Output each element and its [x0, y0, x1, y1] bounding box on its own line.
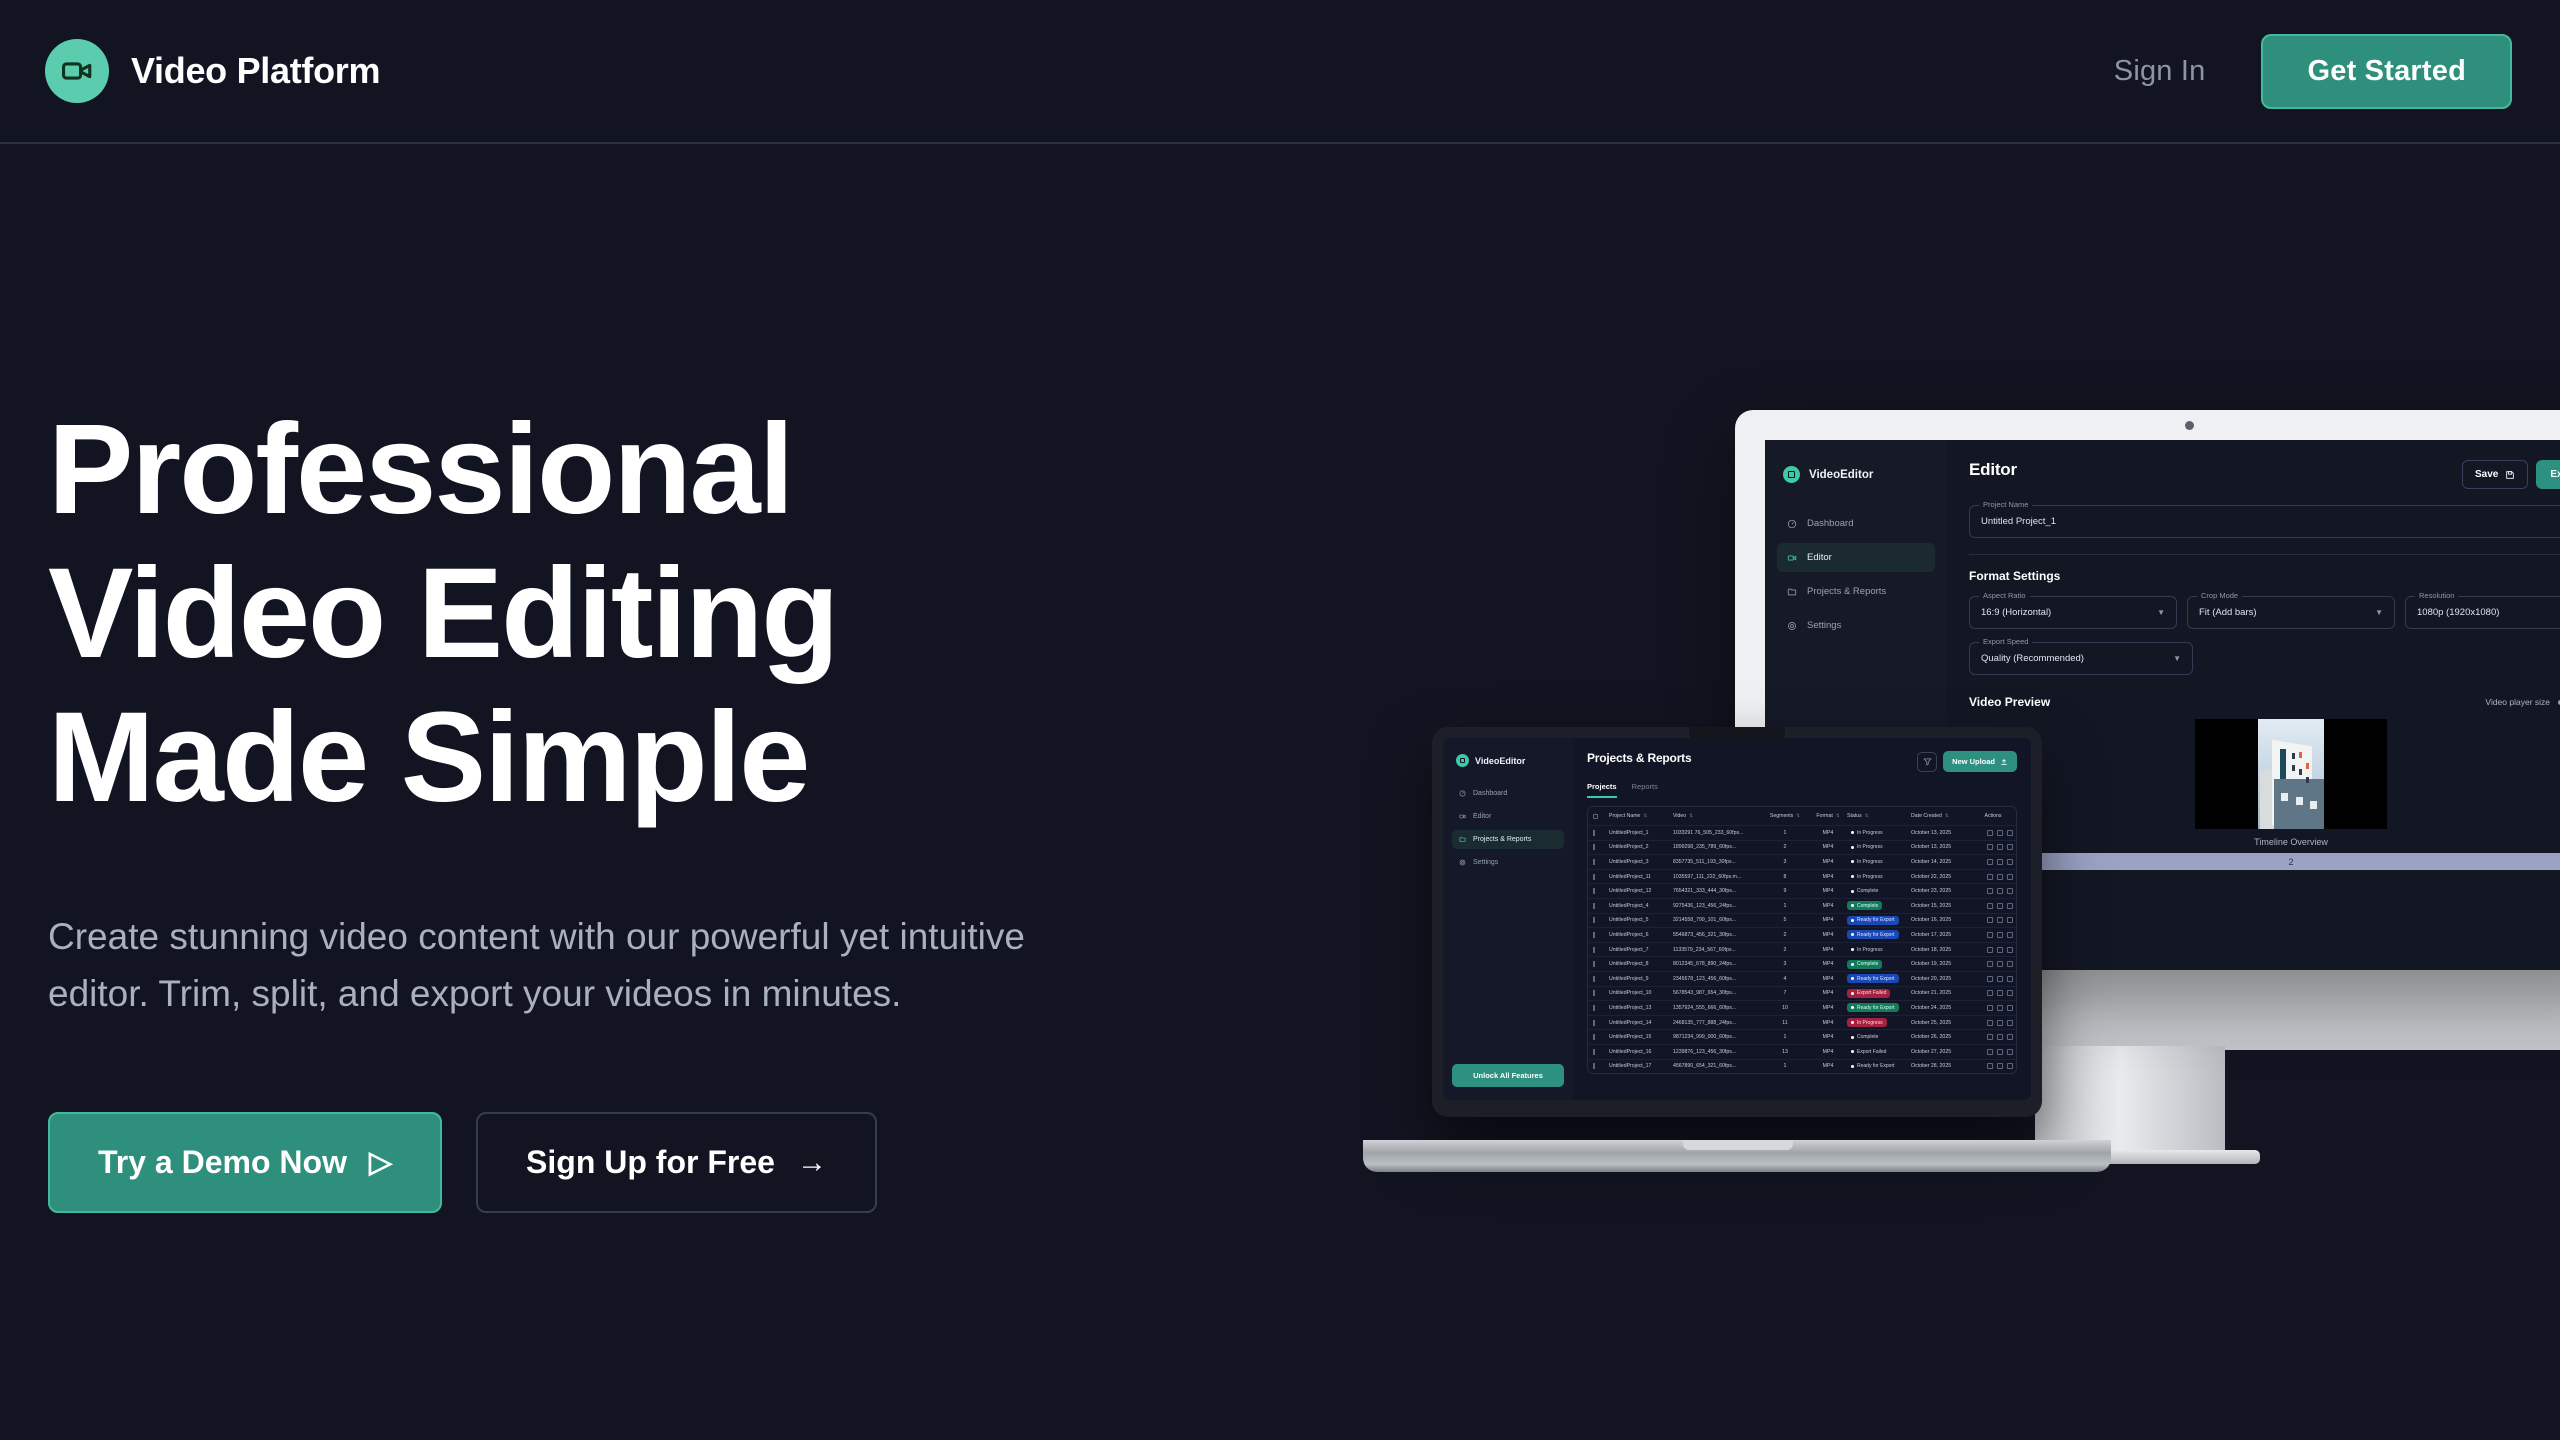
cell-format: MP4 — [1809, 874, 1847, 880]
sidebar-label: Editor — [1473, 813, 1491, 820]
sidebar-item-dashboard[interactable]: Dashboard — [1777, 509, 1935, 538]
cell-status: Export Failed — [1847, 1047, 1911, 1056]
editor-brand-name: VideoEditor — [1809, 469, 1873, 481]
row-checkbox[interactable] — [1593, 903, 1609, 909]
cell-project-name: UntitledProject_17 — [1609, 1063, 1673, 1069]
cell-status: In Progress — [1847, 872, 1911, 881]
cell-date-created: October 17, 2025 — [1911, 932, 1973, 938]
row-checkbox[interactable] — [1593, 932, 1609, 938]
row-checkbox[interactable] — [1593, 990, 1609, 996]
cell-project-name: UntitledProject_15 — [1609, 1034, 1673, 1040]
trash-icon[interactable] — [2007, 903, 2013, 909]
video-thumbnail — [2258, 719, 2324, 829]
table-row[interactable]: UntitledProject_105678543_987_654_30fps.… — [1588, 986, 2016, 1001]
cell-format: MP4 — [1809, 932, 1847, 938]
projects-page-title: Projects & Reports — [1587, 751, 1691, 765]
cell-status: In Progress — [1847, 828, 1911, 837]
edit-icon[interactable] — [1987, 917, 1993, 923]
timeline-overview-label: Timeline Overview — [1969, 837, 2560, 847]
column-project-name[interactable]: Project Name⇅ — [1609, 813, 1673, 819]
cell-video: 1033291 76_505_233_60fps... — [1673, 830, 1761, 836]
row-checkbox[interactable] — [1593, 874, 1609, 880]
sidebar-label: Projects & Reports — [1807, 586, 1886, 597]
status-badge: In Progress — [1847, 872, 1887, 881]
cell-status: Export Failed — [1847, 989, 1911, 998]
trash-icon[interactable] — [2007, 859, 2013, 865]
table-row[interactable]: UntitledProject_174567890_654_321_60fps.… — [1588, 1059, 2016, 1074]
download-icon[interactable] — [1997, 917, 2003, 923]
status-badge: Export Failed — [1847, 989, 1890, 998]
table-row[interactable]: UntitledProject_131357924_555_666_60fps.… — [1588, 1000, 2016, 1015]
trash-icon[interactable] — [2007, 1063, 2013, 1069]
table-row[interactable]: UntitledProject_71133579_234_567_60fps..… — [1588, 942, 2016, 957]
cell-format: MP4 — [1809, 1020, 1847, 1026]
laptop-notch — [1689, 727, 1785, 741]
status-badge: Ready for Export — [1847, 974, 1899, 983]
project-name-value: Untitled Project_1 — [1981, 516, 2056, 527]
row-checkbox[interactable] — [1593, 859, 1609, 865]
cell-project-name: UntitledProject_9 — [1609, 976, 1673, 982]
new-upload-button[interactable]: New Upload — [1943, 751, 2017, 772]
cell-segments: 1 — [1761, 830, 1809, 836]
cell-status: In Progress — [1847, 1018, 1911, 1027]
cell-actions — [1973, 976, 2013, 982]
row-checkbox[interactable] — [1593, 830, 1609, 836]
edit-icon[interactable] — [1987, 859, 1993, 865]
video-icon — [1783, 466, 1800, 483]
sign-in-link[interactable]: Sign In — [2114, 55, 2206, 88]
cell-segments: 3 — [1761, 859, 1809, 865]
cell-project-name: UntitledProject_5 — [1609, 917, 1673, 923]
cell-video: 1357924_555_666_60fps... — [1673, 1005, 1761, 1011]
cell-date-created: October 13, 2025 — [1911, 844, 1973, 850]
cell-project-name: UntitledProject_13 — [1609, 1005, 1673, 1011]
status-badge: In Progress — [1847, 828, 1887, 837]
video-preview-header: Video Preview Video player size — [1969, 695, 2560, 709]
row-checkbox[interactable] — [1593, 888, 1609, 894]
cell-status: Ready for Export — [1847, 916, 1911, 925]
edit-icon[interactable] — [1987, 1034, 1993, 1040]
sort-icon: ⇅ — [1689, 813, 1693, 819]
cell-project-name: UntitledProject_2 — [1609, 844, 1673, 850]
column-video[interactable]: Video⇅ — [1673, 813, 1761, 819]
table-row[interactable]: UntitledProject_111035597_111_222_60fps.… — [1588, 869, 2016, 884]
cell-video: 2468135_777_888_24fps... — [1673, 1020, 1761, 1026]
floppy-disk-icon — [2505, 470, 2515, 480]
edit-icon[interactable] — [1987, 888, 1993, 894]
hero-heading-line-1: Professional — [48, 398, 792, 541]
trash-icon[interactable] — [2007, 1034, 2013, 1040]
hero-section: Professional Video Editing Made Simple C… — [48, 398, 1108, 1213]
table-row[interactable]: UntitledProject_49275436_123_456_24fps..… — [1588, 898, 2016, 913]
row-checkbox[interactable] — [1593, 1005, 1609, 1011]
cell-format: MP4 — [1809, 1034, 1847, 1040]
download-icon[interactable] — [1997, 844, 2003, 850]
download-icon[interactable] — [1997, 1034, 2003, 1040]
trash-icon[interactable] — [2007, 1020, 2013, 1026]
edit-icon[interactable] — [1987, 947, 1993, 953]
cell-date-created: October 27, 2025 — [1911, 1049, 1973, 1055]
sidebar-label: Dashboard — [1807, 518, 1853, 529]
cell-format: MP4 — [1809, 990, 1847, 996]
select-all-checkbox[interactable] — [1593, 814, 1609, 819]
cell-video: 8357735_511_193_30fps... — [1673, 859, 1761, 865]
trash-icon[interactable] — [2007, 844, 2013, 850]
cell-actions — [1973, 1020, 2013, 1026]
editor-brand: VideoEditor — [1765, 466, 1947, 483]
try-demo-button[interactable]: Try a Demo Now ▷ — [48, 1112, 442, 1213]
aspect-ratio-value: 16:9 (Horizontal) — [1981, 607, 2051, 618]
status-badge: In Progress — [1847, 857, 1887, 866]
table-row[interactable]: UntitledProject_142468135_777_888_24fps.… — [1588, 1015, 2016, 1030]
status-badge: Complete — [1847, 1033, 1882, 1042]
cell-segments: 1 — [1761, 1063, 1809, 1069]
filter-button[interactable] — [1917, 752, 1937, 772]
trash-icon[interactable] — [2007, 1049, 2013, 1055]
trash-icon[interactable] — [2007, 830, 2013, 836]
edit-icon[interactable] — [1987, 976, 1993, 982]
cell-actions — [1973, 874, 2013, 880]
edit-icon[interactable] — [1987, 1020, 1993, 1026]
cell-status: Ready for Export — [1847, 1003, 1911, 1012]
laptop-base-notch — [1683, 1140, 1793, 1150]
cell-status: Ready for Export — [1847, 974, 1911, 983]
save-label: Save — [2475, 469, 2498, 480]
cell-video: 1239876_123_456_30fps... — [1673, 1049, 1761, 1055]
crop-mode-select[interactable]: Crop Mode Fit (Add bars) ▼ — [2187, 596, 2395, 629]
edit-icon[interactable] — [1987, 903, 1993, 909]
new-upload-label: New Upload — [1952, 757, 1995, 766]
video-icon — [1456, 754, 1469, 767]
cell-video: 4567890_654_321_60fps... — [1673, 1063, 1761, 1069]
sidebar-item-dashboard[interactable]: Dashboard — [1452, 784, 1564, 803]
player-size-label: Video player size — [2485, 697, 2550, 707]
table-row[interactable]: UntitledProject_38357735_511_193_30fps..… — [1588, 854, 2016, 869]
divider — [1969, 554, 2560, 555]
projects-sidebar: VideoEditor Dashboard Editor Projects & … — [1443, 738, 1573, 1100]
cell-actions — [1973, 888, 2013, 894]
tab-reports[interactable]: Reports — [1632, 782, 1658, 798]
edit-icon[interactable] — [1987, 874, 1993, 880]
page-title: Professional Video Editing Made Simple — [48, 398, 1108, 830]
cell-date-created: October 15, 2025 — [1911, 903, 1973, 909]
download-icon[interactable] — [1997, 903, 2003, 909]
cell-video: 5678543_987_654_30fps... — [1673, 990, 1761, 996]
table-row[interactable]: UntitledProject_161239876_123_456_30fps.… — [1588, 1044, 2016, 1059]
cell-video: 2345678_123_456_60fps... — [1673, 976, 1761, 982]
row-checkbox[interactable] — [1593, 976, 1609, 982]
edit-icon[interactable] — [1987, 990, 1993, 996]
sidebar-label: Settings — [1473, 859, 1498, 866]
cell-date-created: October 28, 2025 — [1911, 1063, 1973, 1069]
cell-actions — [1973, 1063, 2013, 1069]
landing-page: Video Platform Sign In Get Started Profe… — [0, 0, 2560, 1440]
aspect-ratio-label: Aspect Ratio — [1979, 591, 2030, 600]
download-icon[interactable] — [1997, 888, 2003, 894]
trash-icon[interactable] — [2007, 932, 2013, 938]
cell-date-created: October 20, 2025 — [1911, 976, 1973, 982]
cell-status: Complete — [1847, 887, 1911, 896]
trash-icon[interactable] — [2007, 947, 2013, 953]
table-row[interactable]: UntitledProject_53214558_799_101_60fps..… — [1588, 913, 2016, 928]
projects-header-row: Projects & Reports New Upload — [1587, 751, 2017, 772]
cell-date-created: October 24, 2025 — [1911, 1005, 1973, 1011]
site-header: Video Platform Sign In Get Started — [0, 0, 2560, 144]
sort-icon: ⇅ — [1796, 813, 1800, 819]
download-icon[interactable] — [1997, 990, 2003, 996]
sidebar-item-settings[interactable]: Settings — [1777, 611, 1935, 640]
table-row[interactable]: UntitledProject_92345678_123_456_60fps..… — [1588, 971, 2016, 986]
column-actions: Actions — [1973, 813, 2013, 819]
cell-format: MP4 — [1809, 1049, 1847, 1055]
aspect-ratio-select[interactable]: Aspect Ratio 16:9 (Horizontal) ▼ — [1969, 596, 2177, 629]
video-player-preview[interactable] — [2195, 719, 2387, 829]
resolution-select[interactable]: Resolution 1080p (1920x1080) ▼ — [2405, 596, 2560, 629]
cell-project-name: UntitledProject_16 — [1609, 1049, 1673, 1055]
cell-format: MP4 — [1809, 844, 1847, 850]
status-badge: Ready for Export — [1847, 916, 1899, 925]
trash-icon[interactable] — [2007, 874, 2013, 880]
column-date-created[interactable]: Date Created⇅ — [1911, 813, 1973, 819]
sort-icon: ⇅ — [1945, 813, 1949, 819]
status-badge: Ready for Export — [1847, 1062, 1899, 1071]
status-badge: Complete — [1847, 887, 1882, 896]
cell-video: 1899298_235_789_60fps... — [1673, 844, 1761, 850]
row-checkbox[interactable] — [1593, 1020, 1609, 1026]
video-camera-icon — [45, 39, 109, 103]
cell-segments: 4 — [1761, 976, 1809, 982]
cell-status: In Progress — [1847, 857, 1911, 866]
editor-action-buttons: Save Export — [2462, 460, 2560, 489]
cell-video: 5546873_456_321_30fps... — [1673, 932, 1761, 938]
gauge-icon — [1787, 519, 1797, 529]
cell-video: 8012345_678_890_24fps... — [1673, 961, 1761, 967]
download-icon[interactable] — [1997, 976, 2003, 982]
cell-video: 3214558_799_101_60fps... — [1673, 917, 1761, 923]
column-segments[interactable]: Segments⇅ — [1761, 813, 1809, 819]
projects-app-screen: VideoEditor Dashboard Editor Projects & … — [1443, 738, 2031, 1100]
edit-icon[interactable] — [1987, 932, 1993, 938]
cell-date-created: October 23, 2025 — [1911, 888, 1973, 894]
crop-mode-value: Fit (Add bars) — [2199, 607, 2257, 618]
table-body: UntitledProject_11033291 76_505_233_60fp… — [1588, 825, 2016, 1073]
chevron-down-icon: ▼ — [2375, 608, 2383, 617]
sidebar-item-editor[interactable]: Editor — [1452, 807, 1564, 826]
export-button[interactable]: Export — [2536, 460, 2560, 489]
sort-icon: ⇅ — [1643, 813, 1647, 819]
status-badge: Complete — [1847, 960, 1882, 969]
download-icon[interactable] — [1997, 1063, 2003, 1069]
status-badge: Export Failed — [1847, 1047, 1890, 1056]
cell-segments: 7 — [1761, 990, 1809, 996]
edit-icon[interactable] — [1987, 830, 1993, 836]
cell-segments: 2 — [1761, 947, 1809, 953]
cell-status: In Progress — [1847, 945, 1911, 954]
trash-icon[interactable] — [2007, 888, 2013, 894]
trash-icon[interactable] — [2007, 976, 2013, 982]
cell-actions — [1973, 932, 2013, 938]
format-settings-title: Format Settings — [1969, 569, 2560, 583]
cell-project-name: UntitledProject_11 — [1609, 874, 1673, 880]
download-icon[interactable] — [1997, 830, 2003, 836]
cell-status: Ready for Export — [1847, 1062, 1911, 1071]
export-speed-select[interactable]: Export Speed Quality (Recommended) ▼ — [1969, 642, 2193, 675]
cell-actions — [1973, 917, 2013, 923]
column-status[interactable]: Status⇅ — [1847, 813, 1911, 819]
cell-date-created: October 19, 2025 — [1911, 961, 1973, 967]
folder-icon — [1459, 836, 1466, 843]
cell-actions — [1973, 1005, 2013, 1011]
editor-nav: Dashboard Editor Projects & Reports Sett… — [1765, 509, 1947, 640]
edit-icon[interactable] — [1987, 961, 1993, 967]
unlock-all-features-button[interactable]: Unlock All Features — [1452, 1064, 1564, 1087]
export-label: Export — [2550, 469, 2560, 480]
cell-segments: 8 — [1761, 874, 1809, 880]
video-icon — [1787, 553, 1797, 563]
download-icon[interactable] — [1997, 932, 2003, 938]
trash-icon[interactable] — [2007, 961, 2013, 967]
download-icon[interactable] — [1997, 1005, 2003, 1011]
resolution-value: 1080p (1920x1080) — [2417, 607, 2499, 618]
upload-icon — [2000, 758, 2008, 766]
cell-segments: 11 — [1761, 1020, 1809, 1026]
status-badge: In Progress — [1847, 843, 1887, 852]
cell-status: Ready for Export — [1847, 930, 1911, 939]
gear-icon — [1459, 859, 1466, 866]
row-checkbox[interactable] — [1593, 1034, 1609, 1040]
download-icon[interactable] — [1997, 874, 2003, 880]
format-settings-row-1: Aspect Ratio 16:9 (Horizontal) ▼ Crop Mo… — [1969, 583, 2560, 629]
cell-segments: 1 — [1761, 1034, 1809, 1040]
sidebar-item-projects-reports[interactable]: Projects & Reports — [1452, 830, 1564, 849]
cell-video: 7654321_333_444_30fps... — [1673, 888, 1761, 894]
edit-icon[interactable] — [1987, 1005, 1993, 1011]
brand-name: Video Platform — [131, 50, 380, 92]
gear-icon — [1787, 621, 1797, 631]
get-started-button[interactable]: Get Started — [2261, 34, 2512, 109]
editor-page-title: Editor — [1969, 460, 2017, 480]
cell-actions — [1973, 961, 2013, 967]
table-row[interactable]: UntitledProject_88012345_678_890_24fps..… — [1588, 956, 2016, 971]
cell-project-name: UntitledProject_1 — [1609, 830, 1673, 836]
cell-date-created: October 13, 2025 — [1911, 830, 1973, 836]
cell-format: MP4 — [1809, 961, 1847, 967]
cell-date-created: October 14, 2025 — [1911, 859, 1973, 865]
folder-icon — [1787, 587, 1797, 597]
hero-cta-row: Try a Demo Now ▷ Sign Up for Free → — [48, 1112, 1108, 1213]
download-icon[interactable] — [1997, 859, 2003, 865]
table-row[interactable]: UntitledProject_65546873_456_321_30fps..… — [1588, 927, 2016, 942]
row-checkbox[interactable] — [1593, 947, 1609, 953]
cell-format: MP4 — [1809, 947, 1847, 953]
row-checkbox[interactable] — [1593, 961, 1609, 967]
projects-table: Project Name⇅ Video⇅ Segments⇅ Format⇅ S… — [1587, 806, 2017, 1074]
sidebar-label: Editor — [1807, 552, 1832, 563]
video-preview-title: Video Preview — [1969, 695, 2050, 709]
tab-projects[interactable]: Projects — [1587, 782, 1617, 798]
cell-actions — [1973, 830, 2013, 836]
projects-brand: VideoEditor — [1443, 754, 1573, 767]
table-row[interactable]: UntitledProject_159871234_999_000_60fps.… — [1588, 1029, 2016, 1044]
projects-brand-name: VideoEditor — [1475, 756, 1525, 766]
cell-segments: 2 — [1761, 932, 1809, 938]
column-format[interactable]: Format⇅ — [1809, 813, 1847, 819]
row-checkbox[interactable] — [1593, 844, 1609, 850]
resolution-label: Resolution — [2415, 591, 2458, 600]
cell-status: In Progress — [1847, 843, 1911, 852]
cell-format: MP4 — [1809, 888, 1847, 894]
cell-segments: 13 — [1761, 1049, 1809, 1055]
download-icon[interactable] — [1997, 961, 2003, 967]
table-row[interactable]: UntitledProject_127654321_333_444_30fps.… — [1588, 883, 2016, 898]
cell-segments: 1 — [1761, 903, 1809, 909]
brand-logo-group[interactable]: Video Platform — [45, 39, 380, 103]
table-row[interactable]: UntitledProject_11033291 76_505_233_60fp… — [1588, 825, 2016, 840]
cell-project-name: UntitledProject_10 — [1609, 990, 1673, 996]
cell-actions — [1973, 903, 2013, 909]
sidebar-label: Dashboard — [1473, 790, 1507, 797]
cell-video: 1133579_234_567_60fps... — [1673, 947, 1761, 953]
cell-actions — [1973, 1034, 2013, 1040]
edit-icon[interactable] — [1987, 844, 1993, 850]
cell-actions — [1973, 859, 2013, 865]
chevron-down-icon: ▼ — [2157, 608, 2165, 617]
header-actions: Sign In Get Started — [2114, 34, 2512, 109]
trash-icon[interactable] — [2007, 1005, 2013, 1011]
player-size-control[interactable]: Video player size — [2485, 697, 2560, 707]
hero-subtitle: Create stunning video content with our p… — [48, 908, 1108, 1022]
cell-actions — [1973, 990, 2013, 996]
sidebar-item-projects-reports[interactable]: Projects & Reports — [1777, 577, 1935, 606]
sign-up-free-button[interactable]: Sign Up for Free → — [476, 1112, 877, 1213]
row-checkbox[interactable] — [1593, 917, 1609, 923]
status-badge: Complete — [1847, 901, 1882, 910]
table-header-row: Project Name⇅ Video⇅ Segments⇅ Format⇅ S… — [1588, 807, 2016, 825]
download-icon[interactable] — [1997, 1049, 2003, 1055]
sidebar-label: Settings — [1807, 620, 1841, 631]
hero-heading-line-2: Video Editing — [48, 542, 837, 685]
edit-icon[interactable] — [1987, 1049, 1993, 1055]
download-icon[interactable] — [1997, 947, 2003, 953]
sidebar-item-settings[interactable]: Settings — [1452, 853, 1564, 872]
row-checkbox[interactable] — [1593, 1063, 1609, 1069]
cell-date-created: October 18, 2025 — [1911, 947, 1973, 953]
sort-icon: ⇅ — [1836, 813, 1840, 819]
row-checkbox[interactable] — [1593, 1049, 1609, 1055]
cell-actions — [1973, 844, 2013, 850]
trash-icon[interactable] — [2007, 917, 2013, 923]
status-badge: In Progress — [1847, 945, 1887, 954]
project-name-field[interactable]: Project Name Untitled Project_1 — [1969, 505, 2560, 538]
chevron-down-icon: ▼ — [2173, 654, 2181, 663]
export-speed-label: Export Speed — [1979, 637, 2032, 646]
download-icon[interactable] — [1997, 1020, 2003, 1026]
cell-date-created: October 25, 2025 — [1911, 1020, 1973, 1026]
cell-date-created: October 16, 2025 — [1911, 917, 1973, 923]
cell-project-name: UntitledProject_4 — [1609, 903, 1673, 909]
cell-segments: 2 — [1761, 844, 1809, 850]
edit-icon[interactable] — [1987, 1063, 1993, 1069]
trash-icon[interactable] — [2007, 990, 2013, 996]
save-button[interactable]: Save — [2462, 460, 2528, 489]
cell-project-name: UntitledProject_14 — [1609, 1020, 1673, 1026]
editor-header-row: Editor Save Export — [1969, 460, 2560, 489]
cell-project-name: UntitledProject_6 — [1609, 932, 1673, 938]
sidebar-label: Projects & Reports — [1473, 836, 1531, 843]
cell-segments: 5 — [1761, 917, 1809, 923]
sidebar-item-editor[interactable]: Editor — [1777, 543, 1935, 572]
table-row[interactable]: UntitledProject_21899298_235_789_60fps..… — [1588, 840, 2016, 855]
